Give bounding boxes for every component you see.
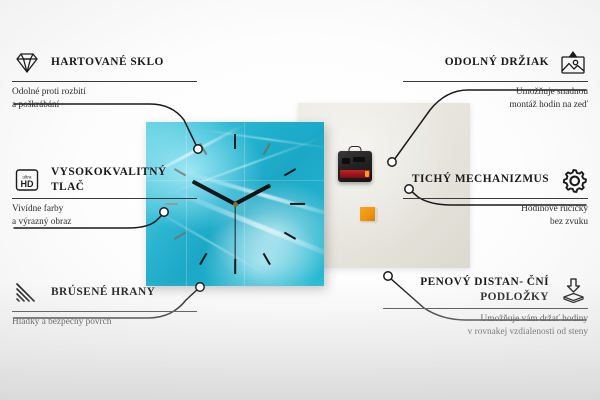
feature-header: ODOLNÝ DRŽIAK: [403, 48, 588, 78]
gear-icon: [558, 165, 588, 195]
divider: [12, 311, 197, 312]
feature-title: PENOVÝ DISTAN- ČNÍ PODLOŽKY: [383, 275, 549, 305]
mechanism-detail: [353, 157, 365, 162]
feature-subtitle: Hodinové ručičky bez zvuku: [403, 203, 588, 229]
feature-block-foam-spacers: PENOVÝ DISTAN- ČNÍ PODLOŽKY Umožňuje vám…: [383, 275, 588, 339]
ultra-hd-badge-icon: ultra HD: [12, 165, 42, 195]
feature-title: BRÚSENÉ HRANY: [51, 285, 155, 300]
clock-tick: [234, 134, 236, 149]
feature-block-silent-mechanism: TICHÝ MECHANIZMUS Hodinové ručičky bez z…: [403, 165, 588, 229]
clock-tick: [290, 203, 305, 205]
clock-second-hand: [234, 204, 235, 260]
clock-mechanism: [338, 151, 372, 182]
divider: [403, 198, 588, 199]
feature-subtitle: Umožňuje snadnou montáž hodin na zeď: [403, 86, 588, 112]
divider: [383, 308, 588, 309]
feature-subtitle: Odolné proti rozbití a poškrábání: [12, 86, 197, 112]
svg-text:HD: HD: [21, 179, 34, 189]
feature-header: ultra HD VYSOKOKVALITNÝ TLAČ: [12, 165, 197, 195]
infographic-canvas: HARTOVANÉ SKLO Odolné proti rozbití a po…: [0, 0, 600, 400]
divider: [12, 81, 197, 82]
wall-hanger-frame-icon: [558, 48, 588, 78]
glass-seam: [244, 122, 245, 286]
aa-battery: [340, 170, 370, 178]
feature-block-hardened-glass: HARTOVANÉ SKLO Odolné proti rozbití a po…: [12, 48, 197, 112]
mechanism-detail: [342, 158, 350, 164]
feature-header: BRÚSENÉ HRANY: [12, 278, 197, 308]
divider: [403, 81, 588, 82]
foam-spacer-pad: [360, 207, 375, 221]
feature-header: TICHÝ MECHANIZMUS: [403, 165, 588, 195]
feature-title: ODOLNÝ DRŽIAK: [445, 55, 549, 70]
polished-edges-icon: [12, 278, 42, 308]
feature-block-durable-holder: ODOLNÝ DRŽIAK Umožňuje snadnou montáž ho…: [403, 48, 588, 112]
feature-title: HARTOVANÉ SKLO: [51, 55, 164, 70]
divider: [12, 198, 197, 199]
feature-block-polished-edges: BRÚSENÉ HRANY Hladký a bezpečný povrch: [12, 278, 197, 329]
feature-header: HARTOVANÉ SKLO: [12, 48, 197, 78]
clock-tick: [234, 259, 236, 274]
feature-title: TICHÝ MECHANIZMUS: [412, 172, 549, 187]
mechanism-hanger-icon: [349, 146, 362, 154]
diamond-icon: [12, 48, 42, 78]
feature-subtitle: Hladký a bezpečný povrch: [12, 316, 197, 329]
feature-subtitle: Umožňuje vám držať hodiny v rovnakej vzd…: [383, 313, 588, 339]
feature-block-high-quality-print: ultra HD VYSOKOKVALITNÝ TLAČ Vivídne far…: [12, 165, 197, 229]
feature-subtitle: Vivídne farby a výrazný obraz: [12, 203, 197, 229]
feature-header: PENOVÝ DISTAN- ČNÍ PODLOŽKY: [383, 275, 588, 305]
clock-center-cap: [233, 202, 238, 207]
feature-title: VYSOKOKVALITNÝ TLAČ: [51, 165, 197, 195]
foam-spacer-icon: [558, 275, 588, 305]
